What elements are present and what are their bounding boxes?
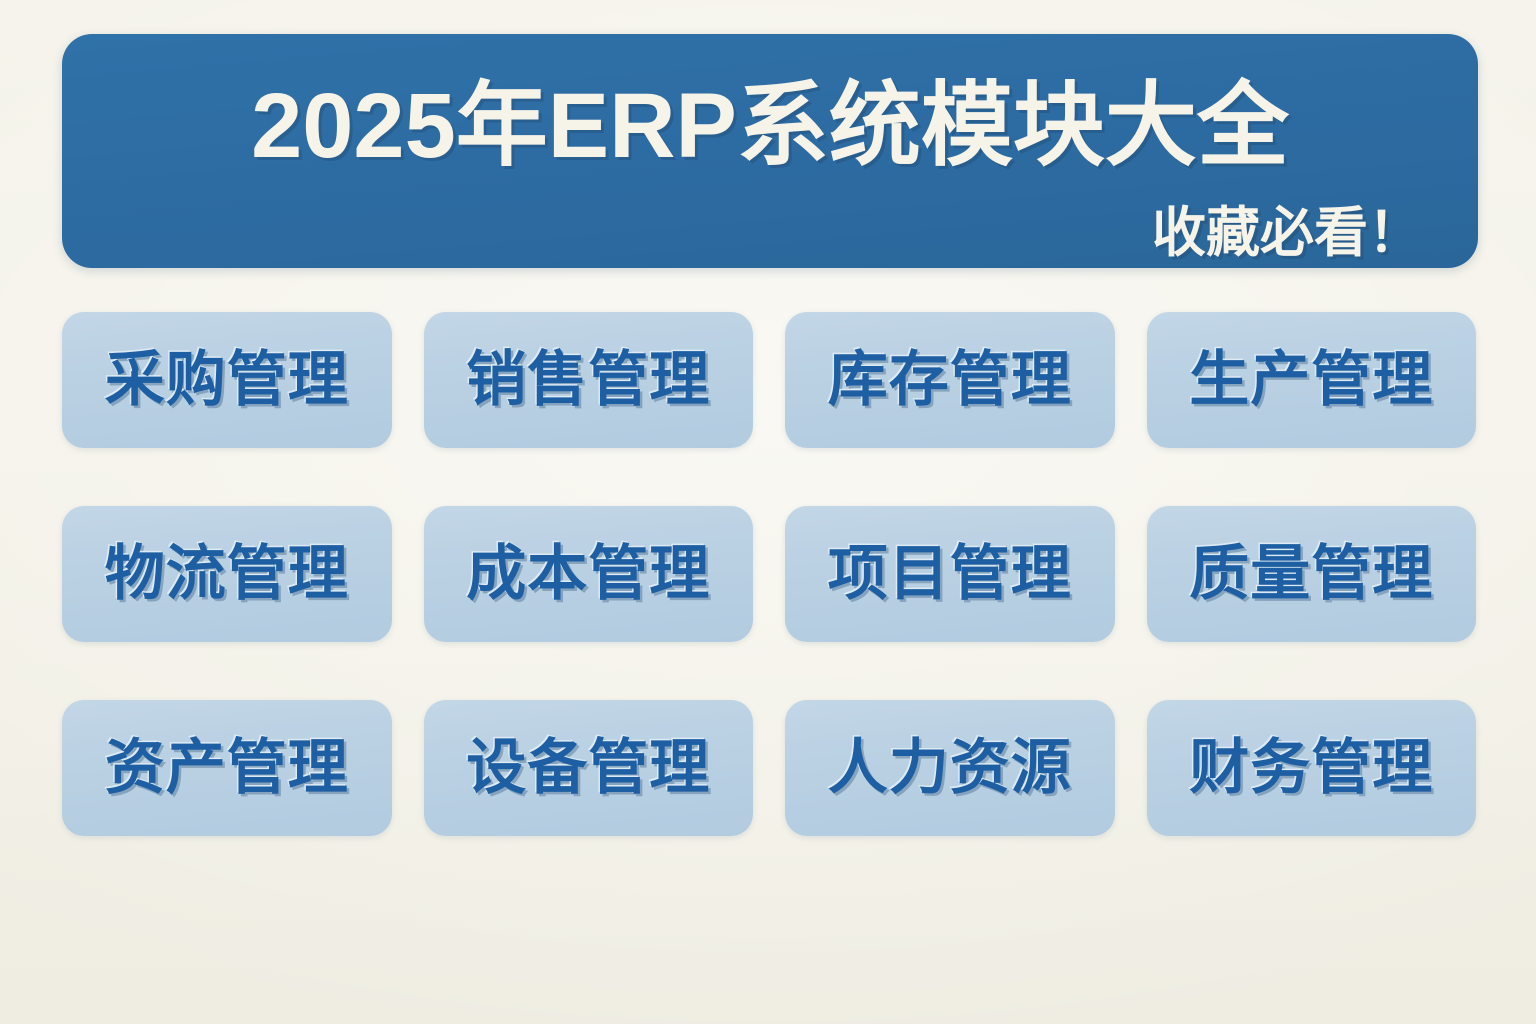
module-card-label: 生产管理: [1189, 350, 1433, 410]
module-card-label: 资产管理: [105, 738, 349, 798]
module-card-4[interactable]: 生产管理: [1147, 312, 1477, 448]
module-card-7[interactable]: 项目管理: [785, 506, 1115, 642]
module-card-label: 财务管理: [1189, 738, 1433, 798]
module-card-label: 项目管理: [828, 544, 1072, 604]
page-subtitle: 收藏必看！: [1152, 206, 1422, 260]
page-title: 2025年ERP系统模块大全: [62, 80, 1478, 172]
module-card-10[interactable]: 设备管理: [424, 700, 754, 836]
module-card-label: 采购管理: [105, 350, 349, 410]
module-card-3[interactable]: 库存管理: [785, 312, 1115, 448]
module-card-8[interactable]: 质量管理: [1147, 506, 1477, 642]
module-card-label: 成本管理: [466, 544, 710, 604]
module-grid: 采购管理 销售管理 库存管理 生产管理 物流管理 成本管理 项目管理 质量管理 …: [62, 312, 1476, 836]
module-card-label: 销售管理: [466, 350, 710, 410]
module-card-2[interactable]: 销售管理: [424, 312, 754, 448]
module-card-1[interactable]: 采购管理: [62, 312, 392, 448]
module-card-12[interactable]: 财务管理: [1147, 700, 1477, 836]
module-card-9[interactable]: 资产管理: [62, 700, 392, 836]
module-card-label: 库存管理: [828, 350, 1072, 410]
module-card-label: 设备管理: [466, 738, 710, 798]
module-card-6[interactable]: 成本管理: [424, 506, 754, 642]
module-card-5[interactable]: 物流管理: [62, 506, 392, 642]
module-card-label: 人力资源: [828, 738, 1072, 798]
header-banner: 2025年ERP系统模块大全 收藏必看！: [62, 34, 1478, 268]
module-card-11[interactable]: 人力资源: [785, 700, 1115, 836]
module-card-label: 质量管理: [1189, 544, 1433, 604]
module-card-label: 物流管理: [105, 544, 349, 604]
